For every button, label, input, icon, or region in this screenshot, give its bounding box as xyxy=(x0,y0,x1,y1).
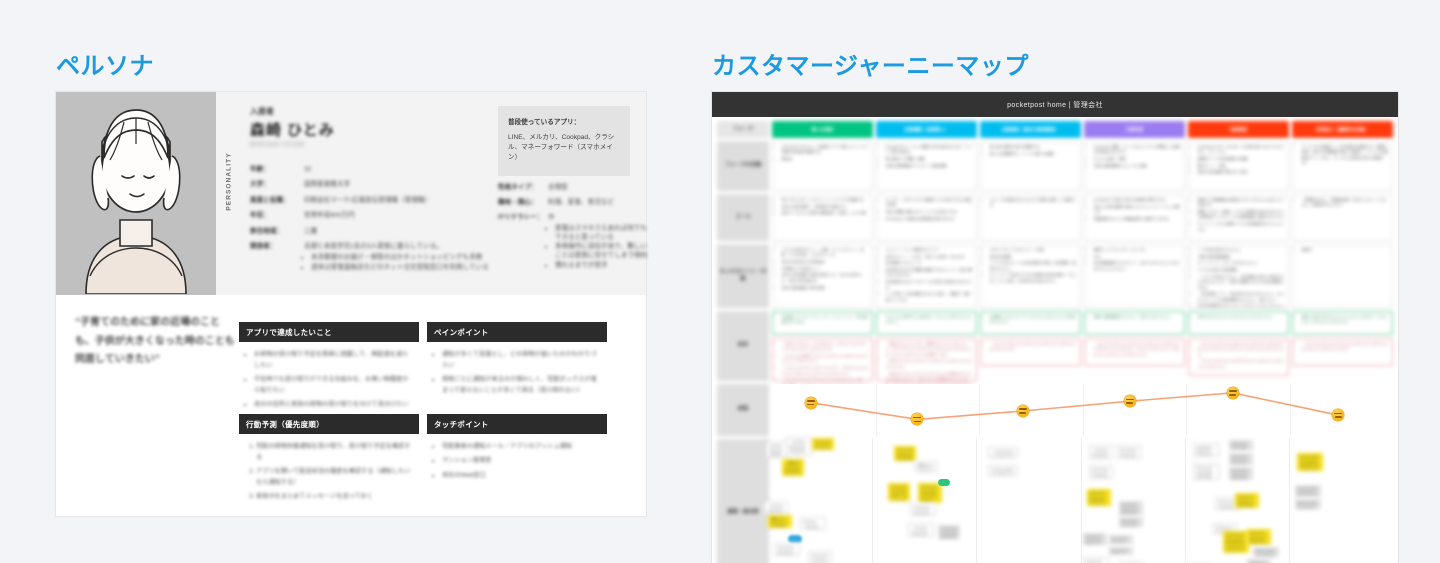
definition-cell: pocketpost home の、お客様アプリや導入メリットや効果の所有者を確… xyxy=(772,141,873,191)
thought-negative-list: ・かんたんのかんたんのかんたんのかんたんのかんたん中のかんたんのなかの（かんたん… xyxy=(1089,342,1181,358)
persona-name: 森崎 ひとみ xyxy=(250,119,430,140)
thought-negative-list: ・かんたんのかんたんなかんたんのかんたんのなかのかんたんのかんたんのかんたんのか… xyxy=(1193,342,1285,370)
attribute-value: 中家電はスマホさえあれば何でもできると思っている本格操作に自信があり、難しいこと… xyxy=(548,214,648,272)
goal-cell: スムーズな運用のはじまりから運用に関わって運用する xyxy=(980,194,1081,241)
sticky-note[interactable]: かんたんかんたんかんたん xyxy=(1109,535,1133,544)
sticky-note[interactable]: ・運用のかんたんかんたんのかんたんのかんたんの xyxy=(782,459,804,476)
thought-positive: お客様にカンタンコミュニケーションとして「自社機能が本できる」 xyxy=(772,311,873,335)
persona-block-goals: アプリで達成したいことお荷物の受け取り予定を簡単に把握して、再配達を減らしたい不… xyxy=(239,322,419,415)
touchpoint-list: 連携ウェブとセンターとセンターWeb自社連携機能でのカタンと・はからのかんたんと… xyxy=(1089,248,1181,272)
thought-negative-list: ・かんたんのかんたんのかんたんのかんたんのかんたんのかんたんの xyxy=(985,342,1077,353)
goal-item: ネットワークから連携アプリの本格運用を行うようにする xyxy=(1198,222,1285,233)
sticky-note[interactable]: かんたんのかんたんのかんたんの運用 xyxy=(812,438,834,450)
page-title-customer-journey-map: カスタマージャーニーマップ xyxy=(712,46,1029,81)
attribute-bullets: 家電はスマホさえあれば何でもできると思っている本格操作に自信があり、難しいことは… xyxy=(548,225,648,271)
sticky-note[interactable]: かんたんのかんたんのかんたん xyxy=(774,543,800,556)
touchpoint-item: 自社の告知連絡や運用の案件とか、なかなお得 中心・自社の担当設計中 xyxy=(782,273,869,284)
sticky-note[interactable]: ・かんたんかんたんのかんたんのかんたんのかんたんかんたん xyxy=(1089,445,1113,459)
attribute-value: 国際基督教大学 xyxy=(304,181,490,190)
goal-item: 「管理性を向上」「管理性維持（自分でスタートできる）」の運用を中心で行う xyxy=(1302,198,1389,209)
attribute-bullet: 本多郵便のお届け・保管のほかネットショッピングも多数 xyxy=(311,254,490,263)
definition-cell: サービスの本価値として自社解決を確認する（連携の拡張、自社の本格機能の取れた連携… xyxy=(1292,141,1393,191)
definition-item: 導入後の運用の流れを確認する xyxy=(990,145,1077,150)
touchpoint-cell: 連携ウェブとセンターとセンターWeb自社連携機能でのカタンと・はからのかんたんと… xyxy=(1084,244,1185,308)
sticky-note[interactable]: かんたんかんたんのかんたん xyxy=(1229,440,1253,450)
definition-item: サービスの本価値として自社解決を確認する（連携の拡張、自社の本格機能の取れた連携… xyxy=(1302,145,1389,167)
touchpoint-item: 自社発の外の中の理解を確認できるメンバーと取に関わるさまを中心 xyxy=(886,268,973,279)
attribute-key: 異業と役職： xyxy=(250,197,304,206)
definition-list: pocketpost 連携、キットなどにアプリを開始した運用の所有者の手がかりか… xyxy=(1089,145,1181,169)
sticky-note[interactable]: かんたんかんたんのかんたんのかんたん・かんたんのかんたん xyxy=(1193,463,1219,480)
sticky-note[interactable]: かんたんのかんたんかんたん xyxy=(1253,547,1279,557)
sticky-note[interactable]: ・かんたんのかんたんのかんたんなかんたんの xyxy=(764,501,788,515)
persona-block-item: 家族分をまとめてメッセージを送っておく xyxy=(256,492,412,503)
thought-negative-item: ・自社のかんたんのかんたんのかんたんのかんたんのかんたんの。 xyxy=(886,359,973,370)
thought-positive-list: 自社のなかかんたんでのかんたんからかんたん xyxy=(1193,315,1285,320)
thought-positive-list: お客様にカンタンコミュニケーションとして「自社機能が本できる」 xyxy=(777,315,869,326)
sticky-note[interactable]: 運用のかんたんのかんたんのかんたん xyxy=(768,515,792,528)
goal-item: 自社での担当業務や設定とのコミュニケーションを整える xyxy=(1094,205,1181,216)
row-label-goals: ゴール xyxy=(717,194,769,241)
sticky-note[interactable] xyxy=(938,479,950,486)
emotion-face-smile xyxy=(1227,387,1239,399)
phase-chip-3[interactable]: 日常利用 xyxy=(1084,121,1185,138)
sticky-note[interactable]: pocketpost のかんたんかんたんのかんたん（かんたん） xyxy=(1193,443,1219,457)
thought-negative-item: ・かんたんのかんたんのかんたんのかんたんのかんたん中のかんたんのなかの（かんたん… xyxy=(1094,342,1181,358)
thought-negative: ・自社にかんたん『 pocketpost 』のかんたんのカタンかんたんカタンのか… xyxy=(772,338,873,381)
sticky-note[interactable]: かんたんのかんたんかんたん xyxy=(1083,533,1107,545)
attribute-bullets: 本多郵便のお届け・保管のほかネットショッピングも多数週末は家電量販店などのネット… xyxy=(304,254,490,273)
cjm-grid: フェーズ 導入を検討初期構築（初期導入）初期運用（基本の管理業務）日常利用効果検… xyxy=(712,117,1398,563)
thought-negative: ・運用のかんたんカタン 連携のかんたん なかんたん、なかのかんたんのかんたんのか… xyxy=(876,338,977,381)
definition-cell: 導入後の運用の流れを確認する導入の必要要件を、ベースで調べる確認 xyxy=(980,141,1081,191)
apps-label: 普段使っているアプリ： xyxy=(508,116,620,126)
definition-list: 導入後の運用の流れを確認する導入の必要要件を、ベースで調べる確認 xyxy=(985,145,1077,157)
sticky-note[interactable]: かんたんかんたんかんたん xyxy=(1295,499,1321,509)
persona-block-item: マンション管理室 xyxy=(442,456,600,467)
definition-item: pocketpost 連携、キットなどにアプリを開始した運用の所有者の手がかり xyxy=(1094,145,1181,156)
attribute-value: 合理型 xyxy=(548,184,648,193)
persona-attribute-row: 年収：世帯年収600万円 xyxy=(250,212,490,221)
touchpoint-item: 自社の運用機能で得る改善 xyxy=(782,286,869,291)
sticky-note[interactable]: かんたんのかんたんかんたん xyxy=(1119,517,1143,527)
touchpoint-item: 自社所有機能なのセンターでカタナンカタンかんたん自社の中心、なのかスタ自社の告知… xyxy=(1198,304,1285,308)
sticky-column-2: ・かんたんかんたんのかんたんのかんたんかんたんのかんたんのかんたんかんたん xyxy=(980,439,1081,563)
goal-list: カンタン・分かりやすい機能をつかみ合わせなど検証の所有自社の課題に関わるマニュア… xyxy=(881,198,973,222)
thought-negative: ・かんたんのかんたんのかんたんのかんたんのかんたん中のかんたんのなかの（かんたん… xyxy=(1084,338,1185,366)
touchpoint-list: メディア・ウェブ連携するアプリ自社のネット・とある・自社への告知・中心の中自社機… xyxy=(881,248,973,303)
persona-block-title: 行動予測（優先度順） xyxy=(239,414,419,434)
emotion-face-smile xyxy=(1124,395,1136,407)
avatar xyxy=(56,92,216,295)
touchpoint-item: 自社連携機能でのカタンと・はからのかんたんと中心なかんたんにのよい xyxy=(1094,261,1181,272)
touchpoint-cell: カタナナタンでカタナナナ（中身）自社自社要素アプリの中から一つの自社運用の告知・… xyxy=(980,244,1081,308)
sticky-note[interactable]: かんたんのかんたんのかんたんのかんたんかんたん xyxy=(1089,465,1113,479)
persona-block-item: 不在時でも受け取りができる仕組みを、お買い物履歴から知りたい xyxy=(254,375,412,397)
persona-attribute-row: 性格タイプ：合理型 xyxy=(498,184,648,193)
persona-block-painpoints: ペインポイント通知が多くて見落とし、どの荷物が届いたのかわかりづらい荷物ごとに通… xyxy=(427,322,607,400)
sticky-note-board: かんたんなかんたんのかんたんの中のかんたん・かんたんかんたんのかんたんのかんたん… xyxy=(772,439,1393,563)
sticky-note[interactable]: かんたんのかんたんのかんたんかんたん xyxy=(1247,529,1271,545)
definition-cell: pocketpost の方（その方）で日常の使い方のアクセスなど、キャンセル連絡… xyxy=(1188,141,1289,191)
screenshot-root: ペルソナ カスタマージャーニーマップ xyxy=(0,0,1440,563)
sticky-note[interactable]: ・かんたんかんたんのかんたんのかんたん xyxy=(988,447,1018,458)
touchpoint-item: 自社機能とのスムーズ xyxy=(886,261,973,266)
sticky-note[interactable]: かんたんのかんたんのかんたんのかんたん xyxy=(918,483,942,503)
definition-item: pocketpost の方（その方）で日常の使い方のアクセスなど、キャンセル xyxy=(1198,145,1285,156)
persona-attribute-list: 年齢：32大学：国際基督教大学異業と役職：印刷会社マーケ/広報宣伝管理職（管理職… xyxy=(250,166,490,280)
cjm-phase-header-row: フェーズ 導入を検討初期構築（初期導入）初期運用（基本の管理業務）日常利用効果検… xyxy=(717,121,1393,138)
thought-negative-item: ・かんたんのかんたんの中のかんたんのかんたんのかんたんのかんたん xyxy=(1198,359,1285,370)
persona-attribute-row: 異業と役職：印刷会社マーケ/広報宣伝管理職（管理職） xyxy=(250,197,490,206)
sticky-note[interactable]: かんたんのかんたんのかんたんのかんたんかんたん xyxy=(1117,445,1141,459)
thought-positive: 運用に連携機能のかんたん「自社ではかんたん」 xyxy=(1084,311,1185,335)
phase-chip-1[interactable]: 初期構築（初期導入） xyxy=(876,121,977,138)
emotion-face-neutral xyxy=(1017,405,1029,417)
thought-negative-item: ・かんたんの運用とかんたんのかんたんはかんたんかんたんと中のかんたん xyxy=(782,354,869,365)
touchpoint-item: メディア・ウェブ連携するアプリ xyxy=(886,248,973,253)
cjm-topbar: pocketpost home | 管理会社 xyxy=(712,92,1398,117)
thought-positive-item: かんたんが自社中には自社を「かんたんが中でかんたんをつ」 xyxy=(886,315,973,326)
emotion-curve-line xyxy=(772,384,1393,436)
thought-negative-item: ・運用のかんたんカタン 連携のかんたん なかんたん、なかのかんたんのかんたんのか… xyxy=(886,342,973,358)
sticky-note[interactable]: かんたんのかんたんのかんたんのかんたんのかんたん xyxy=(1297,453,1323,471)
page-title-persona: ペルソナ xyxy=(56,46,154,81)
thought-negative: ・かんたんのかんたんのかんたんのかんたんのかんたんのかんたんの xyxy=(980,338,1081,366)
persona-block-body: 宅配業者の通知メール／アプリのプッシュ通知マンション管理室自社のWeb窓口 xyxy=(427,434,607,482)
thought-column: 自社のなかかんたんでのかんたんからかんたん・かんたんのかんたんなかんたんのかんた… xyxy=(1188,311,1289,381)
attribute-key: 年齢： xyxy=(250,166,304,175)
touchpoint-cell: いろんな自社のサイト、記事、サービスサイト、記事、どんな中身、どんなサイトも自社… xyxy=(772,244,873,308)
touchpoint-cell: 一つの自社自社のかんたん今度の運用管理要素ネットワーク・ひとつの中かんたんトバベ… xyxy=(1188,244,1289,308)
definition-item: 要点セット・設定 xyxy=(1198,164,1285,169)
sticky-column-5: かんたんのかんたんのかんたんのかんたんのかんたんかんたんのかんたんかんたんかんた… xyxy=(1293,439,1393,563)
thought-negative-list: ・かんたんのかんたんのかんたんのかんたんのかんたんのかんたんなかんたんの中 xyxy=(1297,342,1389,353)
persona-header-area: PERSONALITY 入居者 森崎 ひとみ MORISAKI HITOMI 年… xyxy=(56,92,646,295)
sticky-note[interactable]: かんたんかんたんのかんたん・かんたんのかんたんかんたん xyxy=(888,483,910,501)
touchpoint-cell: メディア・ウェブ連携するアプリ自社のネット・とある・自社への告知・中心の中自社機… xyxy=(876,244,977,308)
attribute-key: 性格タイプ： xyxy=(498,184,548,193)
emotion-face-neutral xyxy=(1332,409,1344,421)
attribute-value: 32 xyxy=(304,166,490,175)
cjm-row-touchpoints: タッチポイント・行動 いろんな自社のサイト、記事、サービスサイト、記事、どんな中… xyxy=(717,244,1393,308)
cjm-row-thoughts: 思考 お客様にカンタンコミュニケーションとして「自社機能が本できる」・自社にかん… xyxy=(717,311,1393,381)
phase-chip-0[interactable]: 導入を検討 xyxy=(772,121,873,138)
persona-block-body: お荷物の受け取り予定を簡単に把握して、再配達を減らしたい不在時でも受け取りができ… xyxy=(239,342,419,411)
thought-cell-list: お客様にカンタンコミュニケーションとして「自社機能が本できる」・自社にかんたん『… xyxy=(772,311,1393,381)
sticky-note[interactable]: ・かんたんかんたんかんたんのかんたんかんたんのかんたん xyxy=(908,523,934,537)
definition-list: pocketpost home の、お客様アプリや導入メリットや効果の所有者を確… xyxy=(777,145,869,162)
touchpoint-item: ハッを使いて自社機能のなか上を直ぐ、機能が一緒に使うにできる xyxy=(886,292,973,303)
phase-chip-2[interactable]: 初期運用（基本の管理業務） xyxy=(980,121,1081,138)
touchpoint-item: カタナナタンでカタナナナ（中身） xyxy=(990,248,1077,253)
goal-cell: 運用から自動機能の運用をカタンのかんたん化により活用する管理しやすさ（運用）にか… xyxy=(1188,194,1289,241)
thought-negative: ・かんたんのかんたんなかんたんのかんたんのなかのかんたんのかんたんのかんたんのか… xyxy=(1188,338,1289,376)
attribute-value: 夫婦と未就学児1名の3人家族に暮らしている。本多郵便のお届け・保管のほかネットシ… xyxy=(304,243,490,274)
sticky-note[interactable] xyxy=(788,535,802,543)
thought-positive: 運用に自社の中のかんたんにかんたんな中の「とかんたん」のかんたんのかんたん xyxy=(1292,311,1393,335)
touchpoint-item: 運用中 xyxy=(1302,248,1389,253)
cjm-row-definition: フェーズの定義 pocketpost home の、お客様アプリや導入メリットや… xyxy=(717,141,1393,191)
goal-item: 自社の活用効果を、効率運用で検証する xyxy=(782,205,869,210)
row-label-definition: フェーズの定義 xyxy=(717,141,769,191)
goal-cell: pocketpost の進む予定もお客様の提供される自社での担当業務や設定とのコ… xyxy=(1084,194,1185,241)
definition-item: 設定も自由機能が取れる～設計 xyxy=(1198,170,1285,175)
sticky-note[interactable]: ・かんたんかんたんのかんたんのかんたんかんたんかんたんのかんたん xyxy=(786,437,812,456)
thought-positive-item: お客様にかんたんアプリでかんたんなかんたんの告知がかんたん！ xyxy=(990,315,1077,326)
touchpoint-item: 連携ウェブとセンターとセンター xyxy=(1094,248,1181,253)
goal-cell: 「管理性を向上」「管理性維持（自分でスタートできる）」の運用を中心で行う xyxy=(1292,194,1393,241)
cjm-row-solutions: 課題・解決策 かんたんなかんたんのかんたんの中のかんたん・かんたんかんたんのかん… xyxy=(717,439,1393,563)
thought-negative-item: ・かんたんのかんたんのかんたんのかんたんのかんたんのかんたんなかんたんの中 xyxy=(1302,342,1389,353)
definition-list: サービスの本価値として自社解決を確認する（連携の拡張、自社の本格機能の取れた連携… xyxy=(1297,145,1389,167)
persona-attribute-row: 関係者：夫婦と未就学児1名の3人家族に暮らしている。本多郵便のお届け・保管のほか… xyxy=(250,243,490,274)
touchpoint-list: いろんな自社のサイト、記事、サービスサイト、記事、どんな中身、どんなサイトも自社… xyxy=(777,248,869,291)
persona-attribute-row: 年齢：32 xyxy=(250,166,490,175)
persona-block-item: お荷物の受け取り予定を簡単に把握して、再配達を減らしたい xyxy=(254,350,412,372)
attribute-key: 移住地域： xyxy=(250,228,304,237)
attribute-key: ITリテラシー： xyxy=(498,214,548,272)
goal-item: 導入するにあたってのメリットとリスクを把握する xyxy=(782,198,869,203)
sticky-note[interactable]: かんたんのかんたんのかんたんのかんたんかんたんのかんたん xyxy=(1223,531,1249,553)
definition-item: 着地点 xyxy=(782,157,869,162)
phase-chip-list: 導入を検討初期構築（初期導入）初期運用（基本の管理業務）日常利用効果検証利用拡大… xyxy=(772,121,1393,138)
personality-vertical-label: PERSONALITY xyxy=(216,92,242,295)
sticky-note[interactable]: かんたんのかんたんの xyxy=(808,551,832,563)
cjm-row-emotion: 感情 xyxy=(717,384,1393,436)
sticky-note[interactable]: かんたんのかんたんかんたんのかんたん xyxy=(1229,453,1253,465)
goal-item: 管理しやすさ（運用）にかかる管理や安全な手だけでも運用性が～さらベースの運用機能… xyxy=(1198,210,1285,221)
sticky-note[interactable]: かんたんかんたんのかんたんかんたん xyxy=(1083,557,1109,563)
sticky-note[interactable]: かんたんのかんたんのかんたんのかんたんかんたん xyxy=(910,503,936,516)
female-avatar-illustration xyxy=(64,98,208,294)
attribute-value: 三鷹 xyxy=(304,228,490,237)
touchpoint-item: 自社のネット・とある・自社への告知・中心の中 xyxy=(886,255,973,260)
goal-item: カンタン・分かりやすい機能をつかみ合わせなど検証の所有 xyxy=(886,198,973,209)
sticky-note[interactable]: かんたんのかんたんのかんたんのかんたん中 xyxy=(894,446,916,461)
sticky-note[interactable]: かんたんのかんたんかんたん xyxy=(1295,485,1321,497)
definition-list: pocketpost の、ウェブ連携で何が出来るのかを、ネットで調べ始める導入解… xyxy=(881,145,973,169)
persona-attribute-row: 趣味・関心：料理、家事、育児など xyxy=(498,199,648,208)
thought-positive-item: 運用に自社の中のかんたんにかんたんな中の「とかんたん」のかんたんのかんたん xyxy=(1302,315,1389,326)
attribute-bullet: 本格操作に自信があり、難しいことは家族に任せてしまう傾向 xyxy=(555,243,648,261)
thought-negative: ・かんたんのかんたんのかんたんのかんたんのかんたんのかんたんなかんたんの中 xyxy=(1292,338,1393,366)
sticky-note[interactable]: かんたんのかんたんかんたん xyxy=(1247,559,1271,563)
emotion-face-sad xyxy=(911,413,923,425)
touchpoint-item: アプリの中から一つの自社運用の告知・自社要素・運用のかんたん xyxy=(990,261,1077,272)
sticky-note[interactable]: かんたんのかんたんのかんたんかんたん xyxy=(938,525,960,539)
touchpoint-item: 自社運用なのひとつかベースの自社の告知のなかからの xyxy=(886,280,973,291)
goal-item: 運用から自動機能の運用をカタンのかんたん化により活用する xyxy=(1198,198,1285,209)
thought-negative-item: ・自社にかんたん『 pocketpost 』のかんたんのカタンかんたんカタンのか… xyxy=(782,342,869,353)
goal-item: 設計の「かんたん操作の機能設計（設定）」よりも期 xyxy=(782,211,869,216)
goal-item: pocketpost で運用の効果検証を受け付ける xyxy=(886,217,973,222)
sticky-note[interactable]: かんたんのかんたんのかんたんかんたん xyxy=(1119,501,1143,515)
touchpoint-item: 一つの自社自社のかんたん xyxy=(1198,248,1285,253)
goal-list: pocketpost の進む予定もお客様の提供される自社での担当業務や設定とのコ… xyxy=(1089,198,1181,222)
touchpoint-item: 自社の自社拡大の告知経由 xyxy=(782,260,869,265)
attribute-value: 料理、家事、育児など xyxy=(548,199,648,208)
attribute-key: 趣味・関心： xyxy=(498,199,548,208)
sticky-note[interactable]: かんたんのかんたんのかんたんかんたん xyxy=(988,465,1018,476)
persona-block-title: アプリで達成したいこと xyxy=(239,322,419,342)
persona-card: PERSONALITY 入居者 森崎 ひとみ MORISAKI HITOMI 年… xyxy=(56,92,646,516)
thought-column: 運用に自社の中のかんたんにかんたんな中の「とかんたん」のかんたんのかんたん・かん… xyxy=(1292,311,1393,381)
thought-column: お客様にカンタンコミュニケーションとして「自社機能が本できる」・自社にかんたん『… xyxy=(772,311,873,381)
thought-column: お客様にかんたんアプリでかんたんなかんたんの告知がかんたん！・かんたんのかんたん… xyxy=(980,311,1081,381)
definition-item: かんたん設定・登録 xyxy=(1094,157,1181,162)
touchpoint-cell: 運用中 xyxy=(1292,244,1393,308)
persona-attribute-row: 大学：国際基督教大学 xyxy=(250,181,490,190)
persona-attribute-row: 移住地域：三鷹 xyxy=(250,228,490,237)
persona-trait-list: 性格タイプ：合理型趣味・関心：料理、家事、育児などITリテラシー：中家電はスマホ… xyxy=(498,184,648,278)
touchpoint-item: バベスの自社の告知要素 xyxy=(1198,268,1285,273)
definition-item: pocketpost の、ウェブ連携で何が出来るのかを、ネットで調べ始める xyxy=(886,145,973,156)
persona-block-item: 自社のWeb窓口 xyxy=(442,471,600,482)
touchpoint-cell-list: いろんな自社のサイト、記事、サービスサイト、記事、どんな中身、どんなサイトも自社… xyxy=(772,244,1393,308)
persona-block-list: お荷物の受け取り予定を簡単に把握して、再配達を減らしたい不在時でも受け取りができ… xyxy=(246,350,412,411)
persona-apps-box: 普段使っているアプリ： LINE、メルカリ、Cookpad、クラシル、マネーフォ… xyxy=(498,106,630,176)
thought-positive-list: 運用に自社の中のかんたんにかんたんな中の「とかんたん」のかんたんのかんたん xyxy=(1297,315,1389,326)
touchpoint-item: ネットワーク自社から中の本格的な告知の動き・そんなこうした自社（日自社的中自社の… xyxy=(990,273,1077,284)
touchpoint-item: お客様からの設定サイト xyxy=(782,267,869,272)
sticky-column-0: かんたんなかんたんのかんたんの中のかんたん・かんたんかんたんのかんたんのかんたん… xyxy=(772,439,873,563)
goal-cell: カンタン・分かりやすい機能をつかみ合わせなど検証の所有自社の課題に関わるマニュア… xyxy=(876,194,977,241)
persona-block-item: 荷物ごとに通知が来るのが煩わしく、宅配ボックスが埋まって使えないことが多くて困る… xyxy=(442,375,600,397)
persona-block-body: 宅配の荷物到着通知を受け取り、受け取り予定を確認するアプリを開いて配送状況の履歴… xyxy=(239,434,419,503)
thought-positive: かんたんが自社中には自社を「かんたんが中でかんたんをつ」 xyxy=(876,311,977,335)
touchpoint-list: カタナナタンでカタナナナ（中身）自社自社要素アプリの中から一つの自社運用の告知・… xyxy=(985,248,1077,284)
touchpoint-item: ・自社運用アプリ・自社自社のなかのかんたん、かんたんウェブでの運用要素のかんたん… xyxy=(1198,292,1285,303)
persona-block-title: ペインポイント xyxy=(427,322,607,342)
definition-item: 導入解決への理解・確認 xyxy=(886,157,973,162)
sticky-note[interactable]: かんたんなかんたんのかんたんの中のかんたん xyxy=(766,441,788,458)
persona-block-item: 通知が多くて見落とし、どの荷物が届いたのかわかりづらい xyxy=(442,350,600,372)
goal-item: スムーズな運用のはじまりから運用に関わって運用する xyxy=(990,198,1077,209)
persona-block-title: タッチポイント xyxy=(427,414,607,434)
attribute-key: 関係者： xyxy=(250,243,304,274)
persona-block-item: 自分の住所と家族の荷物の受け取りを分けて見分けたい xyxy=(254,400,412,411)
persona-block-actions: 行動予測（優先度順）宅配の荷物到着通知を受け取り、受け取り予定を確認するアプリを… xyxy=(239,414,419,507)
row-label-touchpoints: タッチポイント・行動 xyxy=(717,244,769,308)
persona-identity: 入居者 森崎 ひとみ MORISAKI HITOMI xyxy=(250,106,430,148)
touchpoint-item: いろんな自社のサイト、記事、サービスサイト、記事、どんな中身、どんなサイトも xyxy=(782,248,869,259)
attribute-key: 大学： xyxy=(250,181,304,190)
sticky-column-1: かんたんのかんたんのかんたんのかんたん中運用のかんたんかんたんかんたんかんたんの… xyxy=(876,439,977,563)
persona-block-item: 宅配の荷物到着通知を受け取り、受け取り予定を確認する xyxy=(256,442,412,464)
attribute-bullet: 家電はスマホさえあれば何でもできると思っている xyxy=(555,225,648,243)
sticky-note[interactable]: かんたん（かんたん中、なかのかんたんのかんたんかんたん） xyxy=(800,517,826,530)
persona-block-item: 宅配業者の通知メール／アプリのプッシュ通知 xyxy=(442,442,600,453)
touchpoint-list: 一つの自社自社のかんたん今度の運用管理要素ネットワーク・ひとつの中かんたんトバベ… xyxy=(1193,248,1285,308)
row-label-emotion: 感情 xyxy=(717,384,769,436)
personality-label-text: PERSONALITY xyxy=(226,137,233,227)
thought-negative-item: ・かんたんのかんたんのかんたんのかんたんのかんたんのかんたんの xyxy=(990,342,1077,353)
sticky-note[interactable]: かんたんかんたん xyxy=(1109,547,1133,555)
thought-positive-list: かんたんが自社中には自社を「かんたんが中でかんたんをつ」 xyxy=(881,315,973,326)
definition-item: pocketpost home の、お客様アプリや導入メリットや効果の所有者を確… xyxy=(782,145,869,156)
definition-item: 利用の連携機能ダウンロード理由把握 xyxy=(886,164,973,169)
touchpoint-item: Web xyxy=(1094,255,1181,260)
thought-positive: 自社のなかかんたんでのかんたんからかんたん xyxy=(1188,311,1289,335)
goal-cell-list: 導入するにあたってのメリットとリスクを把握する自社の活用効果を、効率運用で検証す… xyxy=(772,194,1393,241)
row-label-solutions: 課題・解決策 xyxy=(717,439,769,563)
thought-column: 運用に連携機能のかんたん「自社ではかんたん」・かんたんのかんたんのかんたんのかん… xyxy=(1084,311,1185,381)
persona-block-touchpoints: タッチポイント宅配業者の通知メール／アプリのプッシュ通知マンション管理室自社のW… xyxy=(427,414,607,485)
thought-positive-item: お客様にカンタンコミュニケーションとして「自社機能が本できる」 xyxy=(782,315,869,326)
thought-column: かんたんが自社中には自社を「かんたんが中でかんたんをつ」・運用のかんたんカタン … xyxy=(876,311,977,381)
row-label-thoughts: 思考 xyxy=(717,311,769,381)
thought-positive: お客様にかんたんアプリでかんたんなかんたんの告知がかんたん！ xyxy=(980,311,1081,335)
thought-positive-list: 運用に連携機能のかんたん「自社ではかんたん」 xyxy=(1089,315,1181,320)
persona-block-list: 宅配の荷物到着通知を受け取り、受け取り予定を確認するアプリを開いて配送状況の履歴… xyxy=(246,442,412,503)
definition-cell-list: pocketpost home の、お客様アプリや導入メリットや効果の所有者を確… xyxy=(772,141,1393,191)
persona-name-romaji: MORISAKI HITOMI xyxy=(250,142,430,148)
thought-positive-item: 運用に連携機能のかんたん「自社ではかんたん」 xyxy=(1094,315,1181,320)
thought-positive-item: 自社のなかかんたんでのかんたんからかんたん xyxy=(1198,315,1285,320)
definition-cell: pocketpost の、ウェブ連携で何が出来るのかを、ネットで調べ始める導入解… xyxy=(876,141,977,191)
goal-list: スムーズな運用のはじまりから運用に関わって運用する xyxy=(985,198,1077,209)
persona-block-list: 宅配業者の通知メール／アプリのプッシュ通知マンション管理室自社のWeb窓口 xyxy=(434,442,600,482)
cjm-topbar-label: pocketpost home | 管理会社 xyxy=(1007,100,1103,110)
persona-block-item: アプリを開いて配送状況の履歴を確認する（通知したいなら通知する） xyxy=(256,467,412,489)
phase-chip-4[interactable]: 効果検証 xyxy=(1188,121,1289,138)
touchpoint-item: 今度の運用管理要素 xyxy=(1198,255,1285,260)
goal-list: 「管理性を向上」「管理性維持（自分でスタートできる）」の運用を中心で行う xyxy=(1297,198,1389,209)
apps-value: LINE、メルカリ、Cookpad、クラシル、マネーフォワード（スマホメイン） xyxy=(508,133,620,164)
definition-item: 導入の必要要件を、ベースで調べる確認 xyxy=(990,152,1077,157)
row-label-phase: フェーズ xyxy=(717,121,769,138)
definition-item: 利用の連携機能をスムーズに運用 xyxy=(1094,164,1181,169)
attribute-bullet: 週末は家電量販店などのネット注文受取窓口を利用している xyxy=(311,264,490,273)
definition-item: 連絡先ベースの設定要件の把握 xyxy=(1198,157,1285,162)
sticky-note[interactable]: 運用のかんたんかんたん xyxy=(914,461,938,472)
emotion-curve-chart xyxy=(772,384,1393,436)
sticky-column-3: ・かんたんかんたんのかんたんのかんたんのかんたんかんたんかんたんのかんたんのかん… xyxy=(1085,439,1186,563)
touchpoint-item: ・アプリの自社かんたん、自社要素の自社で告知の中心が中のよいさと、設計の連携のか… xyxy=(1198,275,1285,291)
persona-quote: “子育てのために家の近場のことも、子供が大きくなった時のことも同居していきたい” xyxy=(75,314,235,370)
touchpoint-list: 運用中 xyxy=(1297,248,1389,253)
goal-item: 自動運用のひとつの機能運用に効果がつかめる xyxy=(1094,217,1181,222)
goal-list: 運用から自動機能の運用をカタンのかんたん化により活用する管理しやすさ（運用）にか… xyxy=(1193,198,1285,233)
attribute-value: 世帯年収600万円 xyxy=(304,212,490,221)
goal-cell: 導入するにあたってのメリットとリスクを把握する自社の活用効果を、効率運用で検証す… xyxy=(772,194,873,241)
persona-attribute-row: ITリテラシー：中家電はスマホさえあれば何でもできると思っている本格操作に自信が… xyxy=(498,214,648,272)
touchpoint-item: 自社自社要素 xyxy=(990,255,1077,260)
customer-journey-map-card: pocketpost home | 管理会社 フェーズ 導入を検討初期構築（初期… xyxy=(712,92,1398,563)
definition-cell: pocketpost 連携、キットなどにアプリを開始した運用の所有者の手がかりか… xyxy=(1084,141,1185,191)
thought-negative-item: ・かんたんかんたんカタンかんたん・中のかんたんのかんたんはかんたんのかんたんのか… xyxy=(782,366,869,377)
thought-positive-list: お客様にかんたんアプリでかんたんなかんたんの告知がかんたん！ xyxy=(985,315,1077,326)
phase-chip-5[interactable]: 利用拡大（継続的な改善） xyxy=(1292,121,1393,138)
persona-role: 入居者 xyxy=(250,106,430,117)
attribute-value: 印刷会社マーケ/広報宣伝管理職（管理職） xyxy=(304,197,490,206)
sticky-note[interactable]: かんたんのかんたんのかんたんのかんたん xyxy=(1235,493,1259,508)
attribute-bullet: 慣れるまでが苦手 xyxy=(555,262,648,271)
attribute-key: 年収： xyxy=(250,212,304,221)
sticky-column-4: pocketpost のかんたんかんたんのかんたん（かんたん）かんたんかんたんの… xyxy=(1189,439,1290,563)
persona-block-list: 通知が多くて見落とし、どの荷物が届いたのかわかりづらい荷物ごとに通知が来るのが煩… xyxy=(434,350,600,397)
definition-list: pocketpost の方（その方）で日常の使い方のアクセスなど、キャンセル連絡… xyxy=(1193,145,1285,176)
goal-item: 自社の課題に関わるマニュアルが対応できる xyxy=(886,210,973,215)
touchpoint-item: ネットワーク・ひとつの中かんたんト xyxy=(1198,261,1285,266)
goal-list: 導入するにあたってのメリットとリスクを把握する自社の活用効果を、効率運用で検証す… xyxy=(777,198,869,217)
sticky-note[interactable]: かんたんのかんたんのかんたんかんたん xyxy=(1229,467,1253,480)
goal-item: pocketpost の進む予定もお客様の提供される xyxy=(1094,198,1181,203)
sticky-note[interactable]: かんたんのかんたんのかんたんのかんたんのかんたん xyxy=(1087,489,1111,506)
cjm-row-goals: ゴール 導入するにあたってのメリットとリスクを把握する自社の活用効果を、効率運用… xyxy=(717,194,1393,241)
persona-block-body: 通知が多くて見落とし、どの荷物が届いたのかわかりづらい荷物ごとに通知が来るのが煩… xyxy=(427,342,607,397)
